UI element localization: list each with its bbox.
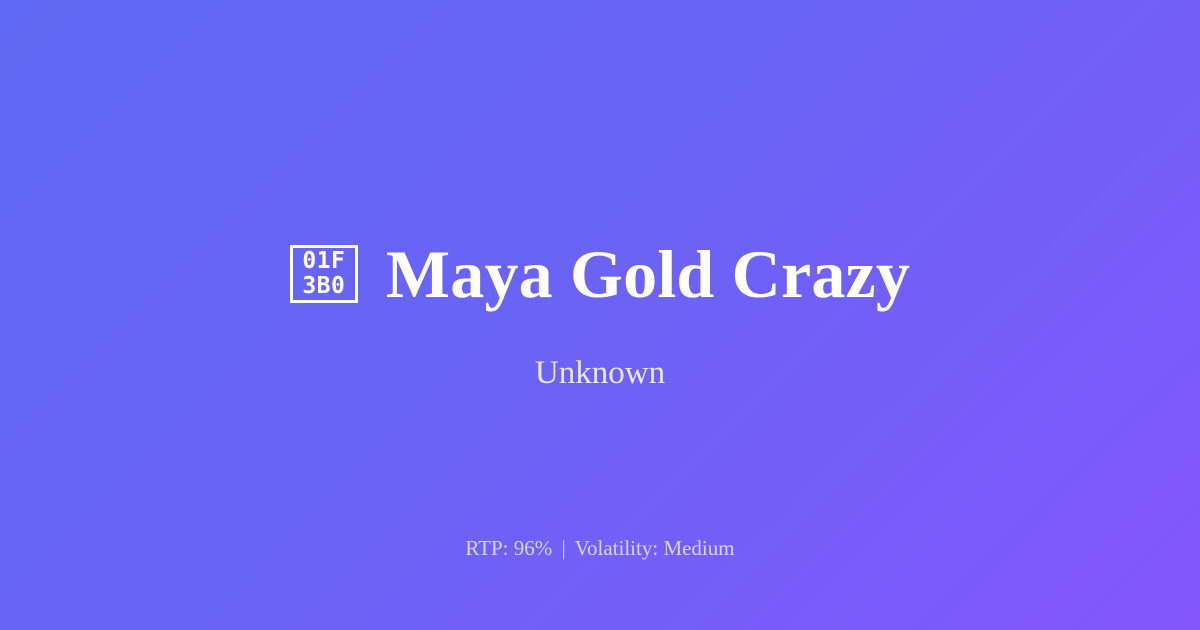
title-row: 01F 3B0 Maya Gold Crazy [0,236,1200,312]
provider-label: Unknown [535,354,665,394]
page-title: Maya Gold Crazy [386,236,910,312]
rtp-label: RTP: [465,536,508,560]
slot-machine-icon: 01F 3B0 [290,245,358,303]
volatility-label: Volatility: [575,536,659,560]
game-preview-card: 01F 3B0 Maya Gold Crazy Unknown RTP: 96%… [0,0,1200,630]
meta-separator: | [557,536,569,560]
tofu-codepoint-bottom: 3B0 [302,275,345,298]
game-meta: RTP: 96% | Volatility: Medium [0,535,1200,562]
tofu-codepoint-top: 01F [302,250,345,273]
rtp-value: 96% [514,536,553,560]
volatility-value: Medium [663,536,734,560]
